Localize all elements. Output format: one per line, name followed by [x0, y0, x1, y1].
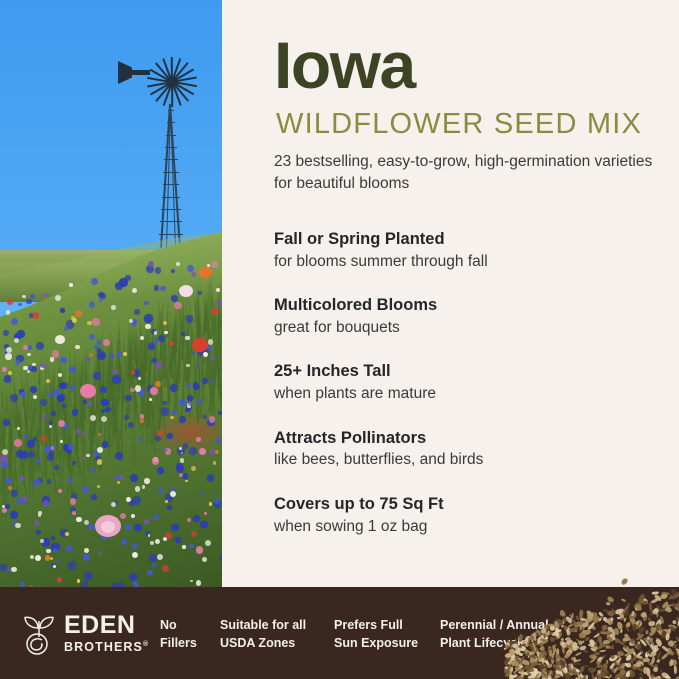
flower-blossom — [100, 386, 107, 393]
flower-blossom — [75, 345, 80, 350]
flower-blossom — [154, 331, 157, 334]
flower-blossom — [49, 425, 52, 428]
flower-blossom — [30, 555, 34, 559]
feature-title: Fall or Spring Planted — [274, 229, 674, 251]
flower-blossom — [8, 371, 12, 375]
flower-blossom — [5, 353, 11, 359]
seed — [619, 629, 622, 634]
seed — [546, 663, 552, 669]
flower-blossom — [40, 363, 45, 368]
flower-blossom — [152, 457, 160, 465]
flower-blossom — [34, 520, 39, 525]
feature-item: Multicolored Bloomsgreat for bouquets — [274, 295, 674, 339]
feature-subtitle: when sowing 1 oz bag — [274, 517, 674, 538]
flower-blossom — [11, 567, 16, 572]
flower-blossom — [150, 541, 154, 545]
flower-blossom — [20, 392, 26, 398]
seed — [672, 620, 677, 625]
flower-blossom — [144, 301, 149, 306]
seed — [559, 620, 562, 624]
flower-blossom — [148, 534, 151, 537]
flower-blossom — [158, 488, 164, 494]
flower-blossom — [125, 275, 131, 281]
flower-blossom — [215, 450, 219, 454]
flower-blossom — [169, 341, 174, 346]
flower-blossom — [92, 318, 100, 326]
flower-blossom — [10, 394, 18, 402]
flower-blossom — [111, 502, 116, 507]
flower-blossom — [191, 531, 197, 537]
flower-blossom — [97, 485, 100, 488]
flower-blossom — [185, 480, 188, 483]
flower-blossom — [77, 579, 80, 582]
flower-blossom — [109, 353, 115, 359]
flower-blossom — [22, 496, 28, 502]
feature-item: 25+ Inches Tallwhen plants are mature — [274, 361, 674, 405]
flower-blossom — [186, 315, 194, 323]
flower-blossom — [193, 515, 200, 522]
flower-blossom — [172, 410, 177, 415]
seed — [510, 661, 518, 666]
flower-blossom — [115, 452, 123, 460]
flower-blossom — [57, 577, 61, 581]
flower-blossom — [50, 357, 54, 361]
flower-blossom — [42, 414, 47, 419]
flower-blossom — [27, 345, 32, 350]
flower-blossom — [132, 496, 141, 505]
feature-item: Covers up to 75 Sq Ftwhen sowing 1 oz ba… — [274, 494, 674, 538]
feature-item: Attracts Pollinatorslike bees, butterfli… — [274, 428, 674, 472]
seed — [538, 630, 540, 635]
flower-blossom — [3, 463, 8, 468]
flower-blossom — [64, 326, 70, 332]
flower-blossom — [48, 393, 53, 398]
flower-blossom — [182, 545, 186, 549]
flower-blossom — [167, 505, 172, 510]
page-title: Iowa — [274, 32, 415, 98]
flower-blossom — [120, 513, 126, 519]
flower-blossom — [171, 295, 178, 302]
flower-blossom — [126, 497, 131, 502]
flower-blossom — [155, 381, 161, 387]
flower-blossom — [59, 383, 65, 389]
seed — [569, 627, 579, 633]
feature-title: Covers up to 75 Sq Ft — [274, 494, 674, 516]
flower-blossom — [67, 478, 72, 483]
flower-blossom — [187, 395, 193, 401]
flower-blossom — [181, 332, 185, 336]
flower-blossom — [119, 475, 124, 480]
scattered-seed — [593, 615, 601, 624]
product-tagline: 23 bestselling, easy-to-grow, high-germi… — [274, 151, 674, 196]
flower-blossom — [23, 366, 28, 371]
flower-blossom — [46, 549, 50, 553]
flower-blossom — [60, 357, 67, 364]
flower-blossom — [58, 373, 62, 377]
flower-blossom — [152, 563, 156, 567]
seed — [592, 645, 598, 651]
flower-blossom — [138, 377, 141, 380]
flower-blossom — [170, 384, 177, 391]
flower-blossom — [53, 389, 60, 396]
flower-blossom — [83, 554, 90, 561]
flower-blossom — [0, 564, 7, 571]
flower-blossom — [68, 444, 74, 450]
footer-content: EDEN BROTHERS® No Fillers Suitable for a… — [0, 587, 679, 679]
flower-blossom — [43, 500, 50, 507]
flower-blossom — [112, 375, 121, 384]
flower-blossom — [155, 362, 162, 369]
flower-blossom — [149, 554, 157, 562]
flower-blossom — [179, 399, 186, 406]
seed — [575, 662, 581, 665]
flower-blossom — [11, 490, 18, 497]
flower-blossom — [89, 301, 96, 308]
flower-blossom — [129, 319, 133, 323]
flower-blossom — [87, 321, 91, 325]
footer-item-line2: Sun Exposure — [334, 634, 418, 652]
flower-blossom — [202, 557, 207, 562]
flower-blossom — [165, 532, 172, 539]
flower-blossom — [200, 493, 203, 496]
flower-blossom — [98, 433, 102, 437]
flower-blossom — [207, 264, 210, 267]
flower-blossom — [187, 265, 194, 272]
flower-blossom — [33, 395, 37, 399]
flower-blossom — [75, 310, 82, 317]
feature-flower-blossom — [101, 521, 115, 533]
flower-blossom — [218, 411, 222, 415]
flower-blossom — [50, 557, 53, 560]
feature-flower-blossom — [179, 285, 193, 297]
seed — [573, 658, 576, 662]
registered-mark: ® — [143, 641, 149, 648]
flower-blossom — [43, 293, 47, 297]
flower-blossom — [47, 479, 52, 484]
flower-blossom — [179, 416, 186, 423]
flower-blossom — [3, 330, 9, 336]
flower-blossom — [185, 336, 190, 341]
flower-blossom — [196, 580, 201, 585]
seed — [664, 606, 672, 613]
flower-blossom — [38, 514, 41, 517]
flower-blossom — [196, 546, 203, 553]
flower-blossom — [70, 366, 76, 372]
flower-blossom — [214, 498, 220, 504]
flower-blossom — [30, 294, 35, 299]
flower-blossom — [33, 312, 39, 318]
footer-item-line2: Fillers — [160, 634, 197, 652]
flower-blossom — [97, 447, 103, 453]
flower-blossom — [72, 461, 76, 465]
seed — [621, 598, 626, 602]
flower-blossom — [71, 316, 75, 320]
flower-blossom — [94, 345, 98, 349]
flower-blossom — [97, 459, 102, 464]
flower-blossom — [176, 262, 180, 266]
flower-blossom — [36, 342, 44, 350]
flower-blossom — [132, 552, 138, 558]
flower-blossom — [158, 335, 165, 342]
flower-blossom — [2, 508, 7, 513]
flower-blossom — [20, 451, 28, 459]
flower-blossom — [28, 451, 35, 458]
feature-subtitle: great for bouquets — [274, 318, 674, 339]
seed — [622, 638, 627, 641]
flower-blossom — [86, 454, 90, 458]
flower-blossom — [165, 500, 168, 503]
flower-blossom — [207, 474, 215, 482]
flower-blossom — [210, 356, 215, 361]
flower-blossom — [101, 399, 109, 407]
seed — [599, 649, 606, 652]
flower-blossom — [130, 474, 138, 482]
footer-item-usda-zones: Suitable for all USDA Zones — [220, 616, 306, 652]
flower-blossom — [54, 465, 59, 470]
flower-blossom — [58, 489, 62, 493]
flower-blossom — [91, 494, 96, 499]
flower-blossom — [102, 441, 109, 448]
flower-blossom — [53, 548, 58, 553]
flower-blossom — [211, 378, 214, 381]
scattered-seed — [620, 577, 628, 586]
flower-blossom — [27, 440, 35, 448]
flower-blossom — [171, 269, 175, 273]
flower-blossom — [209, 502, 212, 505]
flower-blossom — [18, 303, 22, 307]
flower-blossom — [203, 352, 208, 357]
flower-blossom — [132, 543, 138, 549]
flower-blossom — [155, 436, 160, 441]
feature-flower-blossom — [192, 338, 208, 352]
flower-blossom — [3, 419, 10, 426]
product-photo — [0, 0, 222, 618]
flower-blossom — [86, 358, 90, 362]
flower-blossom — [115, 282, 123, 290]
flower-blossom — [138, 437, 142, 441]
flower-blossom — [6, 310, 10, 314]
flower-blossom — [68, 561, 76, 569]
product-label-card: Iowa WILDFLOWER SEED MIX 23 bestselling,… — [0, 0, 679, 679]
footer-bar: EDEN BROTHERS® No Fillers Suitable for a… — [0, 587, 679, 679]
flower-blossom — [155, 267, 161, 273]
feature-subtitle: when plants are mature — [274, 384, 674, 405]
flower-blossom — [101, 416, 107, 422]
flower-blossom — [117, 481, 120, 484]
brand-name: EDEN — [64, 613, 149, 638]
brand-subname-text: BROTHERS — [64, 640, 143, 654]
flower-blossom — [111, 305, 116, 310]
flower-blossom — [190, 580, 193, 583]
flower-blossom — [186, 383, 190, 387]
content-panel: Iowa WILDFLOWER SEED MIX 23 bestselling,… — [222, 0, 679, 618]
flower-blossom — [197, 362, 200, 365]
flower-blossom — [132, 288, 137, 293]
seed — [605, 645, 610, 648]
flower-blossom — [89, 334, 94, 339]
flower-blossom — [82, 432, 85, 435]
flower-blossom — [7, 299, 13, 305]
flower-blossom — [163, 321, 167, 325]
seed — [591, 672, 595, 679]
seed — [629, 670, 635, 677]
flower-blossom — [26, 299, 31, 304]
flower-blossom — [62, 404, 66, 408]
flower-blossom — [24, 434, 28, 438]
flower-blossom — [192, 352, 195, 355]
flower-blossom — [216, 288, 220, 292]
seed — [604, 669, 607, 673]
flower-blossom — [163, 401, 167, 405]
flower-blossom — [193, 384, 199, 390]
flower-blossom — [131, 514, 135, 518]
feature-flower-blossom — [55, 335, 65, 344]
flower-blossom — [167, 433, 173, 439]
flower-blossom — [174, 302, 181, 309]
brand-subname: BROTHERS® — [64, 641, 149, 654]
flower-blossom — [36, 530, 41, 535]
seed — [579, 665, 585, 673]
product-subtitle: WILDFLOWER SEED MIX — [276, 110, 642, 139]
flower-blossom — [52, 350, 60, 358]
flower-blossom — [60, 440, 63, 443]
footer-item-fillers: No Fillers — [160, 616, 197, 652]
flower-blossom — [97, 351, 106, 360]
flower-blossom — [83, 456, 86, 459]
flower-blossom — [2, 367, 7, 372]
flower-blossom — [157, 430, 164, 437]
flower-blossom — [82, 486, 89, 493]
seed — [611, 644, 614, 650]
seed — [572, 641, 578, 649]
flower-blossom — [147, 570, 152, 575]
flower-blossom — [23, 345, 28, 350]
flower-blossom — [10, 511, 18, 519]
flower-blossom — [84, 548, 90, 554]
flower-blossom — [122, 539, 128, 545]
flower-blossom — [32, 363, 36, 367]
seed — [649, 626, 656, 632]
flower-blossom — [51, 446, 55, 450]
flower-blossom — [91, 278, 98, 285]
flower-blossom — [144, 478, 150, 484]
flower-blossom — [130, 388, 135, 393]
seedling-sprout-icon — [18, 611, 60, 655]
flower-blossom — [83, 400, 88, 405]
flower-blossom — [140, 419, 144, 423]
flower-blossom — [4, 375, 12, 383]
flower-blossom — [17, 427, 20, 430]
flower-blossom — [196, 437, 201, 442]
flower-blossom — [171, 524, 178, 531]
brand-logo[interactable]: EDEN BROTHERS® — [18, 611, 140, 655]
flower-blossom — [47, 454, 54, 461]
flower-blossom — [211, 308, 219, 316]
flower-blossom — [88, 402, 92, 406]
flower-blossom — [30, 386, 37, 393]
flower-blossom — [89, 353, 93, 357]
flower-blossom — [41, 435, 47, 441]
flower-blossom — [60, 308, 65, 313]
seed — [661, 653, 669, 660]
flower-blossom — [36, 459, 40, 463]
flower-blossom — [76, 517, 82, 523]
flower-blossom — [199, 448, 206, 455]
feature-flower-blossom — [199, 267, 212, 278]
flower-blossom — [19, 476, 24, 481]
flower-blossom — [211, 261, 218, 268]
flower-blossom — [180, 458, 185, 463]
brand-wordmark: EDEN BROTHERS® — [64, 613, 149, 654]
flower-blossom — [14, 338, 19, 343]
seed — [555, 675, 561, 678]
flower-blossom — [105, 407, 110, 412]
flower-blossom — [154, 285, 160, 291]
flower-blossom — [189, 544, 193, 548]
flower-blossom — [69, 283, 73, 287]
feature-item: Fall or Spring Plantedfor blooms summer … — [274, 229, 674, 273]
flower-blossom — [170, 491, 176, 497]
flower-blossom — [15, 523, 20, 528]
seed — [505, 658, 509, 664]
flower-blossom — [128, 422, 134, 428]
flower-blossom — [27, 370, 30, 373]
seed — [575, 651, 582, 656]
flower-blossom — [134, 309, 140, 315]
flower-blossom — [14, 439, 21, 446]
footer-item-line1: Prefers Full — [334, 616, 418, 634]
feature-flower-blossom — [80, 384, 96, 398]
footer-item-sun-exposure: Prefers Full Sun Exposure — [334, 616, 418, 652]
footer-item-line1: Suitable for all — [220, 616, 306, 634]
flower-blossom — [186, 364, 190, 368]
flower-blossom — [213, 461, 216, 464]
flower-blossom — [90, 415, 96, 421]
seed — [661, 645, 669, 653]
flower-blossom — [202, 378, 208, 384]
flower-blossom — [189, 447, 197, 455]
flower-blossom — [72, 511, 76, 515]
flower-blossom — [160, 286, 166, 292]
flower-blossom — [157, 467, 164, 474]
feature-list: Fall or Spring Plantedfor blooms summer … — [274, 229, 674, 560]
flower-blossom — [200, 521, 208, 529]
feature-title: 25+ Inches Tall — [274, 361, 674, 383]
seed — [673, 665, 676, 674]
flower-blossom — [123, 352, 127, 356]
flower-blossom — [66, 545, 73, 552]
flower-blossom — [175, 537, 180, 542]
flower-blossom — [57, 559, 60, 562]
flower-blossom — [70, 498, 77, 505]
flower-blossom — [134, 524, 142, 532]
flower-blossom — [125, 524, 131, 530]
flower-blossom — [35, 555, 41, 561]
flower-blossom — [204, 512, 208, 516]
flower-blossom — [144, 519, 149, 524]
flower-blossom — [22, 295, 25, 298]
flower-blossom — [144, 314, 153, 323]
seed — [580, 640, 584, 644]
flower-blossom — [84, 572, 92, 580]
flower-blossom — [153, 339, 158, 344]
flower-blossom — [164, 331, 168, 335]
seed — [623, 617, 626, 621]
flower-blossom — [205, 540, 211, 546]
flower-blossom — [157, 554, 163, 560]
flower-blossom — [51, 536, 55, 540]
flower-blossom — [90, 468, 95, 473]
